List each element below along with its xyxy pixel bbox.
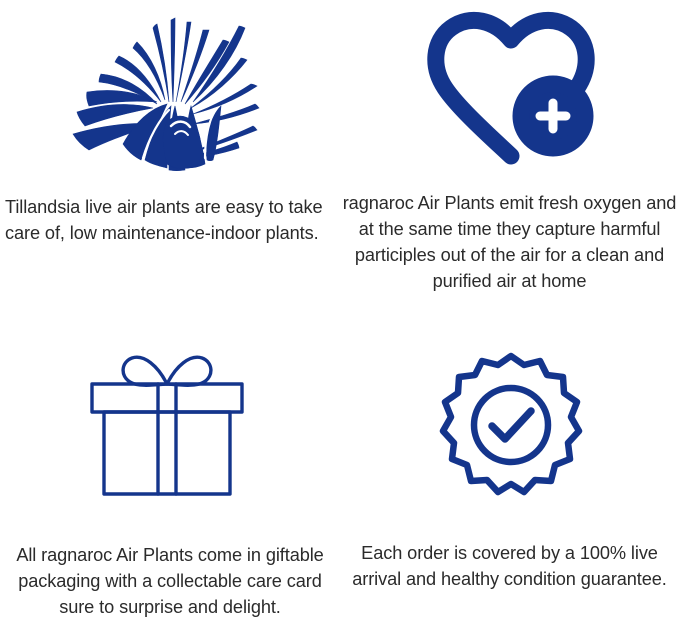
feature-card-live-arrival-guarantee: Each order is covered by a 100% live arr…	[340, 308, 679, 617]
heart-plus-icon	[423, 8, 599, 168]
feature-caption: ragnaroc Air Plants emit fresh oxygen an…	[340, 168, 679, 294]
feature-grid: Tillandsia live air plants are easy to t…	[0, 0, 679, 617]
feature-card-air-plant-care: Tillandsia live air plants are easy to t…	[0, 0, 340, 308]
guarantee-seal-icon	[432, 346, 590, 504]
feature-card-giftable-packaging: All ragnaroc Air Plants come in giftable…	[0, 308, 340, 617]
air-plant-icon	[71, 8, 261, 176]
feature-caption: Each order is covered by a 100% live arr…	[340, 504, 679, 592]
feature-card-fresh-oxygen: ragnaroc Air Plants emit fresh oxygen an…	[340, 0, 679, 308]
feature-caption: All ragnaroc Air Plants come in giftable…	[0, 506, 340, 620]
gift-box-icon	[74, 346, 260, 506]
feature-caption: Tillandsia live air plants are easy to t…	[0, 176, 340, 246]
